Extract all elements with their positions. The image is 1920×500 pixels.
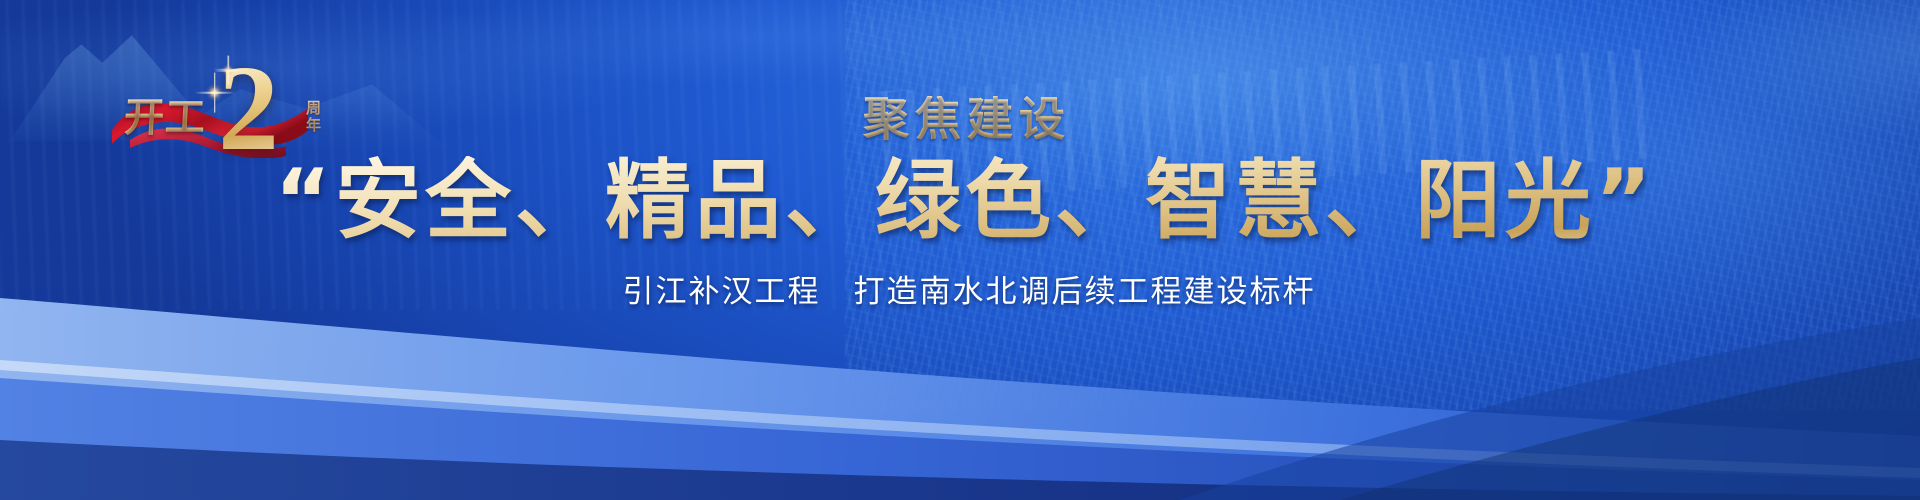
page-title: “安全、精品、绿色、智慧、阳光” [0,156,1920,247]
anniversary-banner: 开工 2 周年 聚焦建设 “安全、精品、绿色、智慧、阳光” 引江补汉工程 打造南… [0,0,1920,500]
emblem-start-label: 开工 [123,98,207,138]
headline-block: 聚焦建设 “安全、精品、绿色、智慧、阳光” 引江补汉工程 打造南水北调后续工程建… [0,96,1920,308]
eyebrow-text: 聚焦建设 [0,96,1920,142]
emblem-anniversary-label: 周年 [306,100,326,134]
subtitle-text: 引江补汉工程 打造南水北调后续工程建设标杆 [0,277,1920,308]
emblem-anniversary-number: 2 [218,48,279,170]
